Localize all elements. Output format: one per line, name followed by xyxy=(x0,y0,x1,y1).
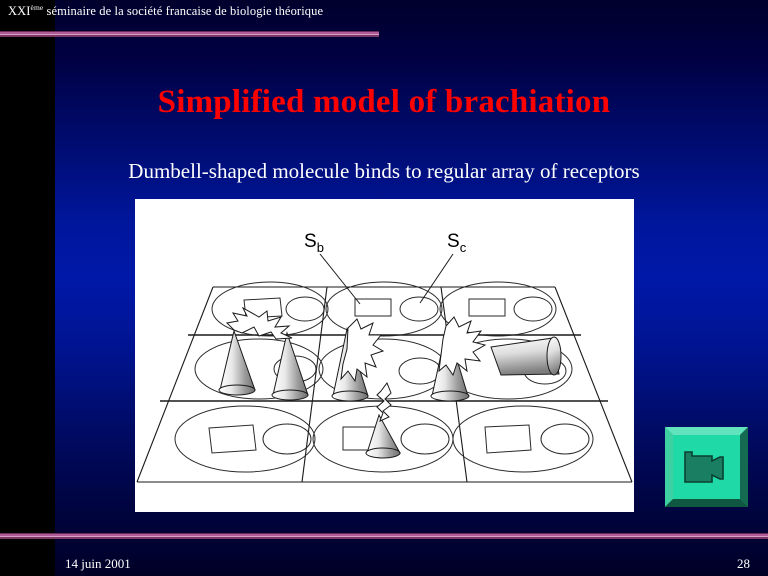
presentation-slide: XXIème séminaire de la société francaise… xyxy=(0,0,768,576)
cone-base xyxy=(219,385,255,395)
label-sc-subscript: c xyxy=(460,240,467,255)
media-clip-button[interactable] xyxy=(665,427,748,507)
free-cone-base xyxy=(547,337,561,375)
cone-base xyxy=(431,391,469,401)
footer-date: 14 juin 2001 xyxy=(65,556,131,572)
label-sc-base: S xyxy=(447,231,460,252)
cone-base xyxy=(272,390,308,400)
rule-line-4 xyxy=(0,537,768,539)
header-divider-rule xyxy=(0,31,379,37)
figure-panel: Sb Sc xyxy=(135,199,634,512)
button-bevel-right xyxy=(740,427,748,507)
label-sb-base: S xyxy=(304,231,317,252)
header-superscript: ème xyxy=(31,3,44,12)
button-bevel-bottom xyxy=(665,499,748,507)
slide-title: Simplified model of brachiation xyxy=(0,84,768,121)
cone-base xyxy=(332,391,368,401)
slide-subtitle: Dumbell-shaped molecule binds to regular… xyxy=(0,159,768,184)
footer-divider-rule xyxy=(0,533,768,539)
button-bevel-left xyxy=(665,427,673,507)
footer-page-number: 28 xyxy=(737,556,750,572)
cone-base xyxy=(366,448,400,458)
rule-line-4 xyxy=(0,35,379,37)
video-camera-icon[interactable] xyxy=(665,427,748,507)
brachiation-diagram: Sb Sc xyxy=(135,199,634,512)
label-sb-subscript: b xyxy=(317,240,324,255)
header-prefix: XXI xyxy=(8,4,31,18)
header-rest: séminaire de la société francaise de bio… xyxy=(43,4,323,18)
button-bevel-top xyxy=(665,427,748,435)
slide-header-text: XXIème séminaire de la société francaise… xyxy=(8,3,323,19)
